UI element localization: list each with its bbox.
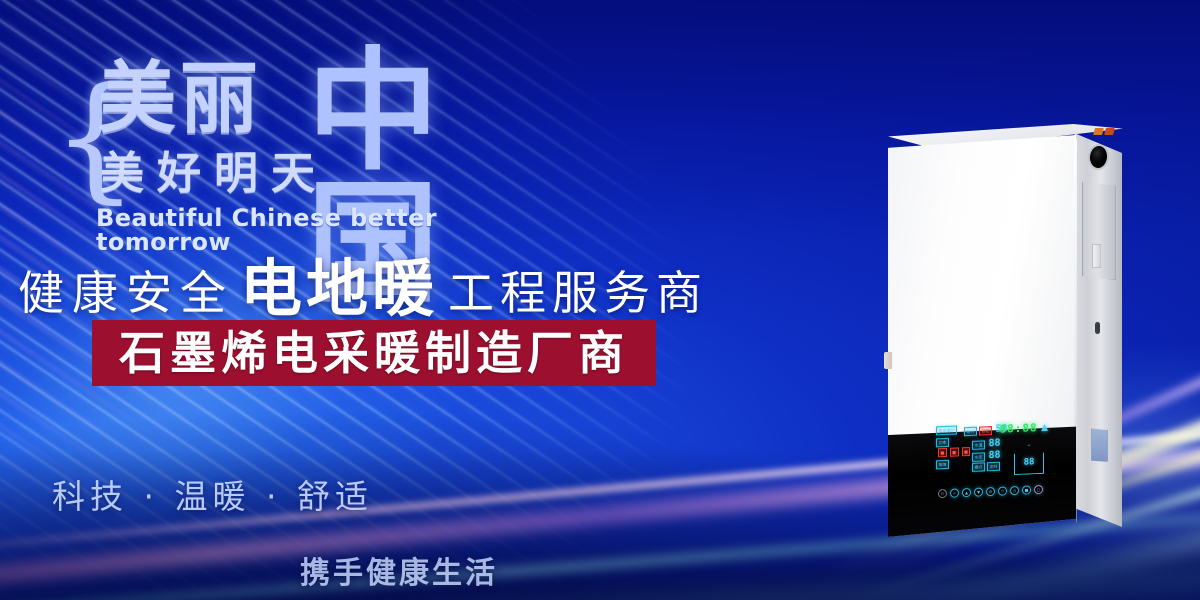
lcd-row-label-4: 定时 xyxy=(987,462,1000,472)
logo-subheadline: 美好明天 xyxy=(100,152,328,196)
main-headline: 健康安全 电地暖 工程服务商 xyxy=(18,258,708,320)
lcd-indicator-3: ■ xyxy=(962,447,971,456)
tagline-primary: 科技 · 温暖 · 舒适 xyxy=(52,470,373,518)
tagline-secondary: 携手健康生活 xyxy=(300,548,498,592)
lcd-label-lock: 锁定 xyxy=(979,426,992,436)
lcd-house-icon: 88 xyxy=(1014,444,1044,475)
lcd-badge-power: 功率 xyxy=(936,438,949,448)
lcd-row-label-1: 水温 xyxy=(972,440,985,450)
headline-part-health-safety: 健康安全 xyxy=(18,270,234,320)
brand-logo: { 美丽 中国 美好明天 Beautiful Chinese better to… xyxy=(52,48,482,228)
lcd-row-label-3: 模式 xyxy=(972,462,985,472)
timer-key[interactable]: ⏱ xyxy=(998,486,1007,495)
product-side-screw xyxy=(1095,322,1100,334)
mode-key[interactable]: ☼ xyxy=(950,488,959,497)
red-bar-text: 石墨烯电采暖制造厂商 xyxy=(119,330,629,376)
logo-headline-primary: 美丽 xyxy=(98,60,262,138)
product-pipe-fitting-return xyxy=(1104,128,1115,135)
logo-english-tagline: Beautiful Chinese better tomorrow xyxy=(96,206,482,254)
lcd-clock-digits: 88:88 xyxy=(998,421,1039,436)
down-key[interactable]: ▼ xyxy=(974,487,983,496)
up-key[interactable]: ▲ xyxy=(962,488,971,497)
lcd-indicator-2: ■ xyxy=(950,447,959,456)
clock-key[interactable]: ◷ xyxy=(1010,486,1019,495)
product-side-vent xyxy=(1091,428,1108,462)
red-highlight-bar: 石墨烯电采暖制造厂商 xyxy=(92,320,656,386)
lcd-room-temp: 88 xyxy=(1024,458,1035,467)
lock-key[interactable]: ■ xyxy=(1022,485,1031,494)
product-image-electric-boiler: 电采暖炉 定时 锁定 58 88:88 ▲ 功率 ■ ■ ■ 故障 xyxy=(860,108,1160,538)
promotional-banner: { 美丽 中国 美好明天 Beautiful Chinese better to… xyxy=(0,0,1200,600)
headline-part-service-provider: 工程服务商 xyxy=(448,270,708,320)
lcd-badge-alarm: 故障 xyxy=(936,460,949,470)
lcd-row-value-1: 88 xyxy=(987,438,1002,451)
product-lcd-display: 电采暖炉 定时 锁定 58 88:88 ▲ 功率 ■ ■ ■ 故障 xyxy=(936,422,1050,499)
product-pipe-fitting-hot xyxy=(1093,128,1104,135)
lcd-label-mode: 电采暖炉 xyxy=(936,426,957,436)
product-side-panel-latch xyxy=(1092,244,1101,268)
lcd-indicator-1: ■ xyxy=(938,448,947,457)
reset-key[interactable]: ▢ xyxy=(1034,485,1043,494)
lcd-label-timer: 定时 xyxy=(964,426,977,436)
power-key[interactable]: ⏻ xyxy=(938,489,947,498)
lcd-row-value-2: 88 xyxy=(987,450,1002,463)
wifi-icon: ▲ xyxy=(1041,424,1048,433)
lcd-row-label-2: 水压 xyxy=(972,452,985,462)
set-key[interactable]: ⚙ xyxy=(986,487,995,496)
headline-part-electric-floor-heating: 电地暖 xyxy=(240,258,438,320)
